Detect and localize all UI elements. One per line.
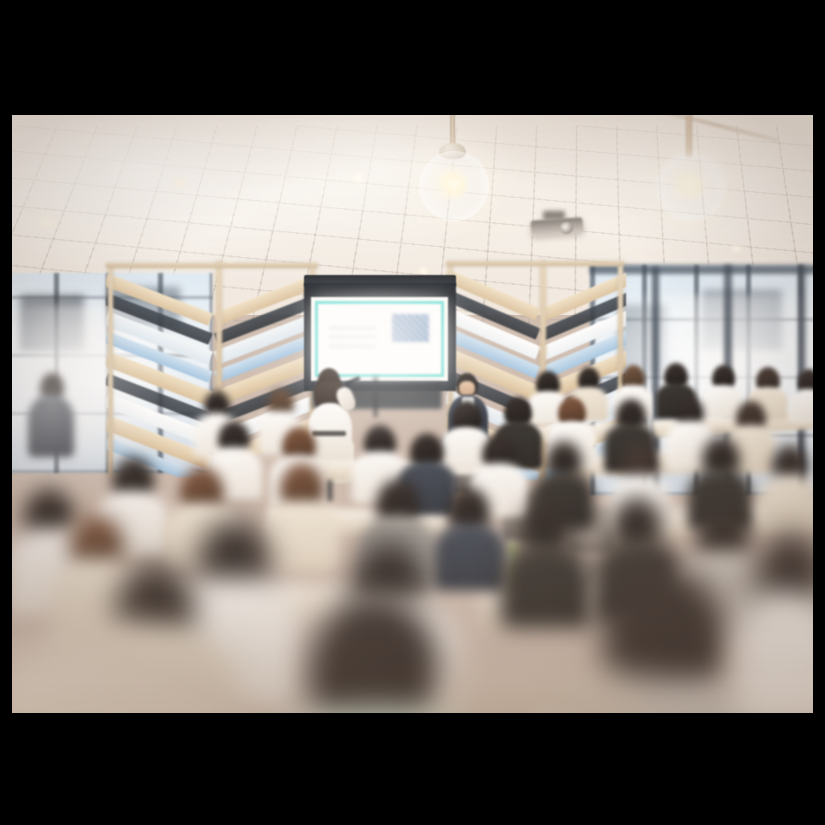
foreground-attendee-body: [736, 593, 813, 713]
lamp-bulb-glow: [442, 172, 466, 196]
attendee-body: [500, 543, 592, 629]
pendant-globe-lamp: [419, 151, 489, 221]
pendant-rod: [686, 115, 692, 157]
photo-stage: [0, 0, 825, 825]
ceiling-downlight: [417, 267, 430, 275]
pendant-globe-lamp: [657, 153, 725, 221]
copresenter-face: [459, 381, 475, 396]
ceiling-downlight: [350, 173, 367, 183]
ceiling-downlight: [730, 245, 743, 253]
chevron-frame-post: [108, 265, 113, 477]
attendee-body: [790, 389, 813, 423]
letterbox-bar-right: [813, 0, 825, 825]
attendee-body: [264, 501, 340, 571]
letterbox-bar-left: [0, 0, 12, 825]
letterbox-bar-bottom: [0, 713, 825, 825]
projector-lens-icon: [560, 222, 573, 234]
attendee-body: [760, 475, 813, 531]
attendee-body: [434, 523, 506, 591]
photograph: [12, 115, 813, 713]
foreground-floor-blur: [442, 671, 642, 713]
mic-stand: [374, 377, 377, 417]
attendee-body: [28, 395, 74, 457]
projector-mount: [543, 211, 565, 221]
lamp-bulb-glow: [679, 174, 703, 198]
ceiling-downlight: [34, 215, 60, 229]
chevron-frame-rail: [446, 261, 624, 266]
chevron-frame-rail: [106, 263, 318, 268]
speaker-belt: [312, 431, 346, 436]
letterbox-bar-top: [0, 0, 825, 115]
ceiling-downlight: [172, 179, 188, 188]
